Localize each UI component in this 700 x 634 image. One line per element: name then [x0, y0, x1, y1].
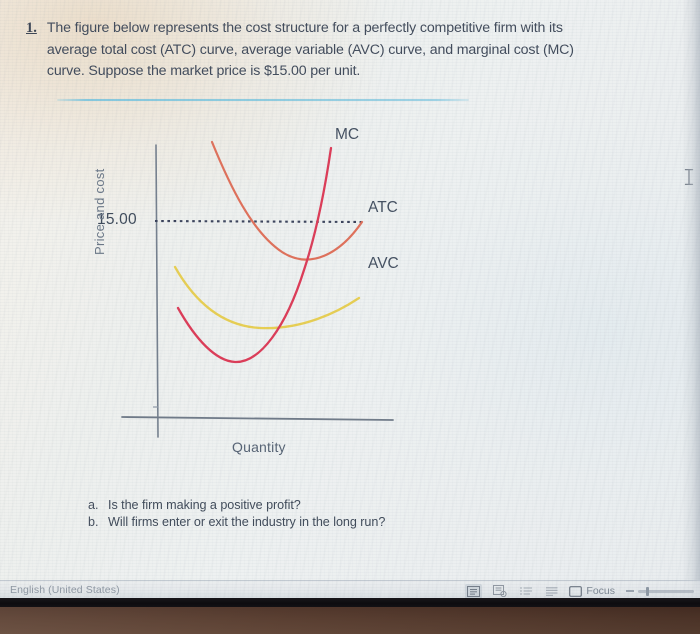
desk-sheen — [0, 607, 700, 634]
curve-label-atc: ATC — [368, 199, 398, 217]
word-document-canvas[interactable]: 1. The figure below represents the cost … — [0, 0, 700, 600]
sub-question-a-text: Is the firm making a positive profit? — [108, 498, 301, 512]
cost-curves-figure — [100, 112, 420, 462]
price-line-dotted — [155, 221, 362, 222]
word-status-bar[interactable]: English (United States) — [0, 580, 700, 600]
horizontal-rule-divider — [57, 99, 469, 101]
atc-curve — [212, 142, 362, 260]
zoom-track[interactable] — [638, 590, 694, 593]
avc-curve — [175, 267, 359, 328]
question-number: 1. — [26, 18, 37, 39]
sub-question-a: a. Is the firm making a positive profit? — [88, 498, 385, 512]
y-axis — [156, 145, 158, 437]
origin-tick — [152, 402, 162, 412]
sub-question-b-marker: b. — [88, 515, 108, 529]
zoom-slider[interactable] — [626, 590, 694, 593]
y-axis-title: Price and cost — [92, 168, 107, 255]
zoom-out-button[interactable] — [626, 590, 634, 592]
focus-mode-button[interactable]: Focus — [569, 585, 615, 597]
outline-icon[interactable] — [543, 584, 560, 599]
curve-label-avc: AVC — [368, 255, 399, 273]
curve-label-mc: MC — [335, 126, 359, 144]
x-axis — [122, 417, 393, 420]
question-block: 1. The figure below represents the cost … — [26, 18, 626, 83]
sub-question-a-marker: a. — [88, 498, 108, 512]
monitor-screen: 1. The figure below represents the cost … — [0, 0, 700, 600]
read-mode-icon[interactable] — [465, 584, 482, 599]
x-axis-title: Quantity — [232, 439, 286, 455]
question-text: The figure below represents the cost str… — [47, 18, 612, 83]
sub-question-b: b. Will firms enter or exit the industry… — [88, 515, 385, 529]
status-language-label[interactable]: English (United States) — [10, 584, 120, 596]
focus-icon — [569, 586, 582, 597]
web-layout-icon[interactable] — [517, 584, 534, 599]
sub-question-b-text: Will firms enter or exit the industry in… — [108, 515, 385, 529]
question-row: 1. The figure below represents the cost … — [26, 18, 626, 83]
print-layout-icon[interactable] — [491, 584, 508, 599]
cost-curves-svg — [100, 112, 420, 462]
mc-curve — [178, 148, 331, 362]
sub-question-list: a. Is the firm making a positive profit?… — [88, 498, 385, 532]
focus-label: Focus — [586, 585, 615, 597]
screenshot-root: 1. The figure below represents the cost … — [0, 0, 700, 634]
zoom-knob[interactable] — [646, 587, 649, 596]
